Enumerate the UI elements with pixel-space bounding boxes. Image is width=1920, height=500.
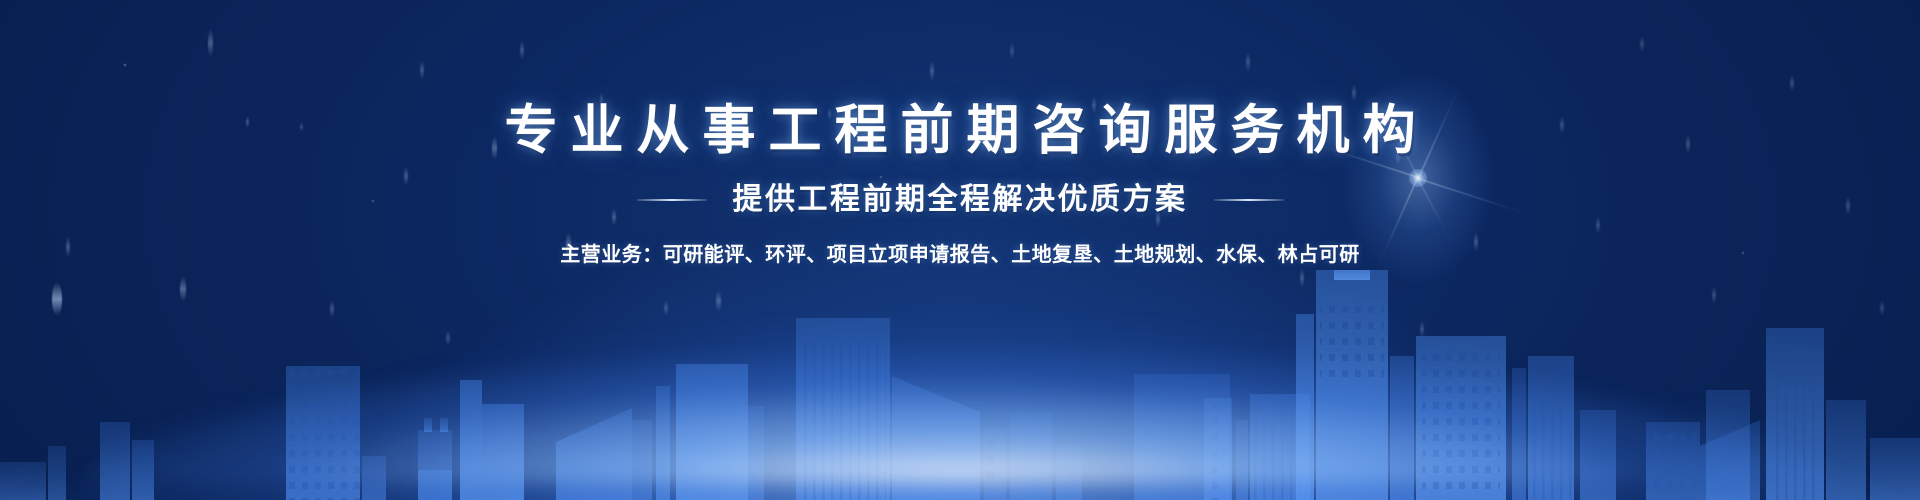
city-skyline bbox=[0, 270, 1920, 500]
star-streak bbox=[930, 60, 934, 82]
lens-flare-ray bbox=[1371, 177, 1418, 280]
lens-flare-ray bbox=[1418, 178, 1544, 220]
star-streak bbox=[1686, 134, 1690, 154]
star-streak bbox=[1246, 52, 1250, 72]
banner-subheadline-row: 提供工程前期全程解决优质方案 bbox=[637, 185, 1284, 215]
hero-banner: 专业从事工程前期咨询服务机构 提供工程前期全程解决优质方案 主营业务：可研能评、… bbox=[0, 0, 1920, 500]
right-dash-decoration bbox=[1214, 199, 1284, 201]
lens-flare-ray bbox=[1417, 178, 1458, 253]
star-dot bbox=[1742, 252, 1744, 254]
star-streak bbox=[1474, 232, 1478, 252]
star-streak bbox=[612, 208, 616, 226]
star-streak bbox=[300, 122, 303, 132]
star-streak bbox=[520, 40, 524, 60]
star-streak bbox=[1790, 74, 1794, 92]
star-streak bbox=[208, 28, 213, 58]
star-streak bbox=[1010, 42, 1014, 60]
star-dot bbox=[372, 200, 374, 202]
lens-flare-core bbox=[1409, 169, 1427, 187]
banner-headline: 专业从事工程前期咨询服务机构 bbox=[492, 104, 1429, 157]
star-streak bbox=[420, 60, 424, 80]
left-dash-decoration bbox=[637, 199, 707, 201]
star-streak bbox=[1596, 216, 1600, 234]
star-streak bbox=[1640, 36, 1644, 52]
star-streak bbox=[246, 116, 249, 128]
star-dot bbox=[880, 176, 882, 178]
star-dot bbox=[124, 64, 126, 66]
star-streak bbox=[66, 236, 70, 258]
star-streak bbox=[1560, 116, 1564, 134]
star-streak bbox=[404, 166, 408, 186]
banner-business-line: 主营业务：可研能评、环评、项目立项申请报告、土地复垦、土地规划、水保、林占可研 bbox=[560, 245, 1360, 265]
star-streak bbox=[1352, 84, 1356, 102]
banner-subheadline: 提供工程前期全程解决优质方案 bbox=[733, 185, 1188, 215]
star-streak bbox=[1846, 196, 1850, 216]
